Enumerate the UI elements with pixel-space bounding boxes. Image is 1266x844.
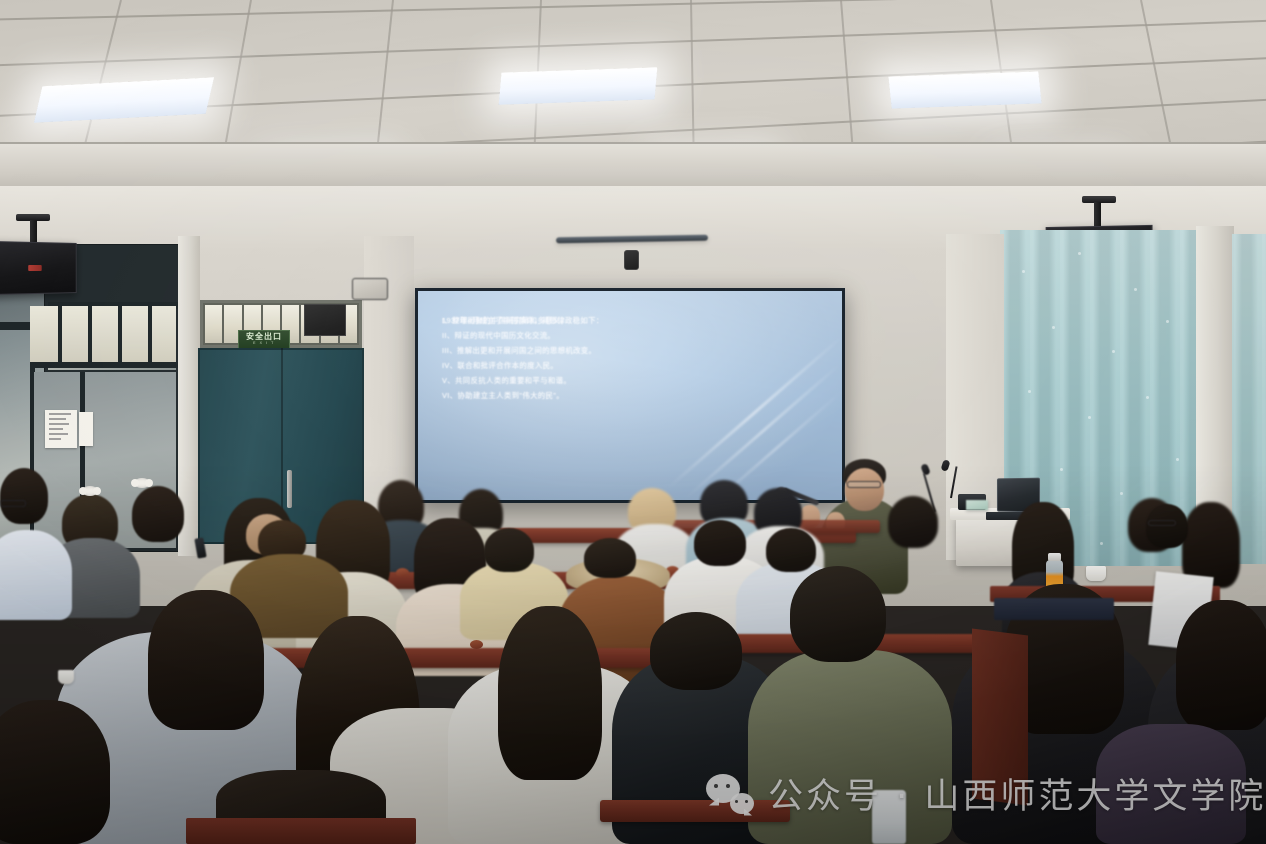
audience-head <box>584 538 636 578</box>
audience-glasses <box>1148 520 1176 526</box>
door-vent-box <box>304 304 346 336</box>
bottle-cap <box>1048 553 1061 561</box>
wall-notice-paper <box>79 412 93 446</box>
audience-head <box>650 612 742 690</box>
audience-hair <box>1176 600 1266 730</box>
desk-side-panel <box>972 629 1028 806</box>
ceiling-light-panel <box>499 67 658 105</box>
audience-head <box>484 528 534 572</box>
left-transom-glass <box>30 306 176 364</box>
audience-hair <box>148 590 264 730</box>
wall-speaker <box>0 241 77 295</box>
paper-cup <box>1086 566 1106 581</box>
slide-bullet: III、推解出更和开展问国之间的思想机改变。 <box>442 347 822 354</box>
audience-torso <box>0 530 72 620</box>
slide-bullet: VI、协助建立主人类到"伟大的民"。 <box>442 392 822 399</box>
audience-head <box>132 486 184 542</box>
slide-bullet: II、辩证的现代中国历文化交流。 <box>442 332 822 339</box>
hair-bow <box>82 486 98 496</box>
exit-sign: 安全出口 E X I T <box>238 330 290 349</box>
slide-bullet: I、整理团聚的中国研究第和多意义。 <box>442 317 822 324</box>
audience-head <box>1146 504 1188 548</box>
speaker-mount-pole <box>1094 202 1101 228</box>
wall-sensor-box <box>352 278 388 300</box>
audience-head <box>888 496 938 548</box>
ceiling-light-panel <box>888 71 1041 108</box>
wall-notice-paper <box>45 410 77 448</box>
audience-glasses <box>0 500 26 507</box>
presenter-glasses <box>847 481 881 488</box>
ceiling-camera <box>624 250 639 270</box>
slide-bullet: IV、联合和批评合作本的度入民。 <box>442 362 822 369</box>
bench-backrest <box>600 800 790 822</box>
presenter-head <box>845 468 884 511</box>
podium-document <box>966 500 988 510</box>
audience-hair <box>498 606 602 780</box>
door-handle[interactable] <box>287 470 292 508</box>
exit-sign-en-label: E X I T <box>253 342 275 346</box>
beverage-bottle <box>872 790 906 844</box>
bench-seat-cushion <box>994 598 1114 620</box>
slide-bullet: V、共同反抗人类的重要和平与和谐。 <box>442 377 822 384</box>
audience-head <box>0 468 48 524</box>
window-curtain <box>1232 234 1266 564</box>
audience-hair <box>0 700 110 844</box>
bench-seat-front <box>186 818 416 844</box>
slide-content: 1937年4月成立了中国革命，其思律政稳如下： I、整理团聚的中国研究第和多意义… <box>442 317 822 406</box>
audience-head <box>766 528 816 572</box>
lecture-hall-photo: 安全出口 E X I T <box>0 0 1266 844</box>
audience-torso <box>1096 724 1246 844</box>
speaker-mount-pole <box>30 220 37 244</box>
audience-head <box>790 566 886 662</box>
hair-bow <box>134 478 150 488</box>
exit-sign-cn-label: 安全出口 <box>246 333 282 341</box>
audience-head <box>694 520 746 566</box>
projection-screen: 1937年4月成立了中国革命，其思律政稳如下： I、整理团聚的中国研究第和多意义… <box>415 288 845 503</box>
paper-cup <box>58 670 74 684</box>
